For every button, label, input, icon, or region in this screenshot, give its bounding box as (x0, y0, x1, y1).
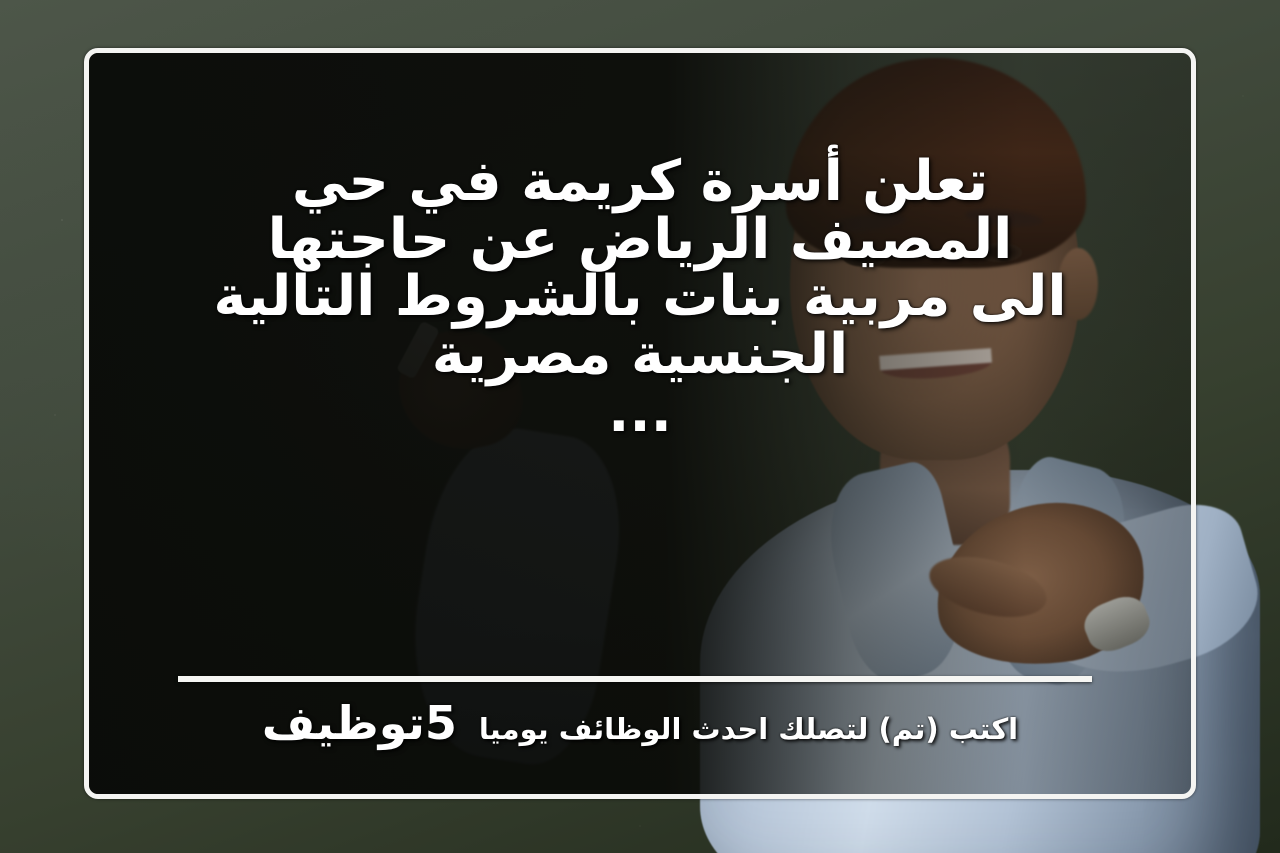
headline-line-1: تعلن أسرة كريمة في حي (98, 153, 1182, 211)
headline-line-2: المصيف الرياض عن حاجتها (98, 211, 1182, 269)
headline-line-3: الى مربية بنات بالشروط التالية (98, 268, 1182, 326)
headline-line-4: الجنسية مصرية (98, 326, 1182, 384)
headline-line-5: ... (98, 384, 1182, 442)
footer-brand-name: 5توظيف (262, 696, 457, 750)
poster-content: تعلن أسرة كريمة في حي المصيف الرياض عن ح… (84, 48, 1196, 799)
headline-block: تعلن أسرة كريمة في حي المصيف الرياض عن ح… (84, 153, 1196, 441)
horizontal-divider (178, 676, 1092, 682)
footer-tagline: اكتب (تم) لتصلك احدث الوظائف يوميا (479, 712, 1018, 746)
footer-bar: اكتب (تم) لتصلك احدث الوظائف يوميا 5توظي… (84, 696, 1196, 750)
image-canvas: تعلن أسرة كريمة في حي المصيف الرياض عن ح… (0, 0, 1280, 853)
